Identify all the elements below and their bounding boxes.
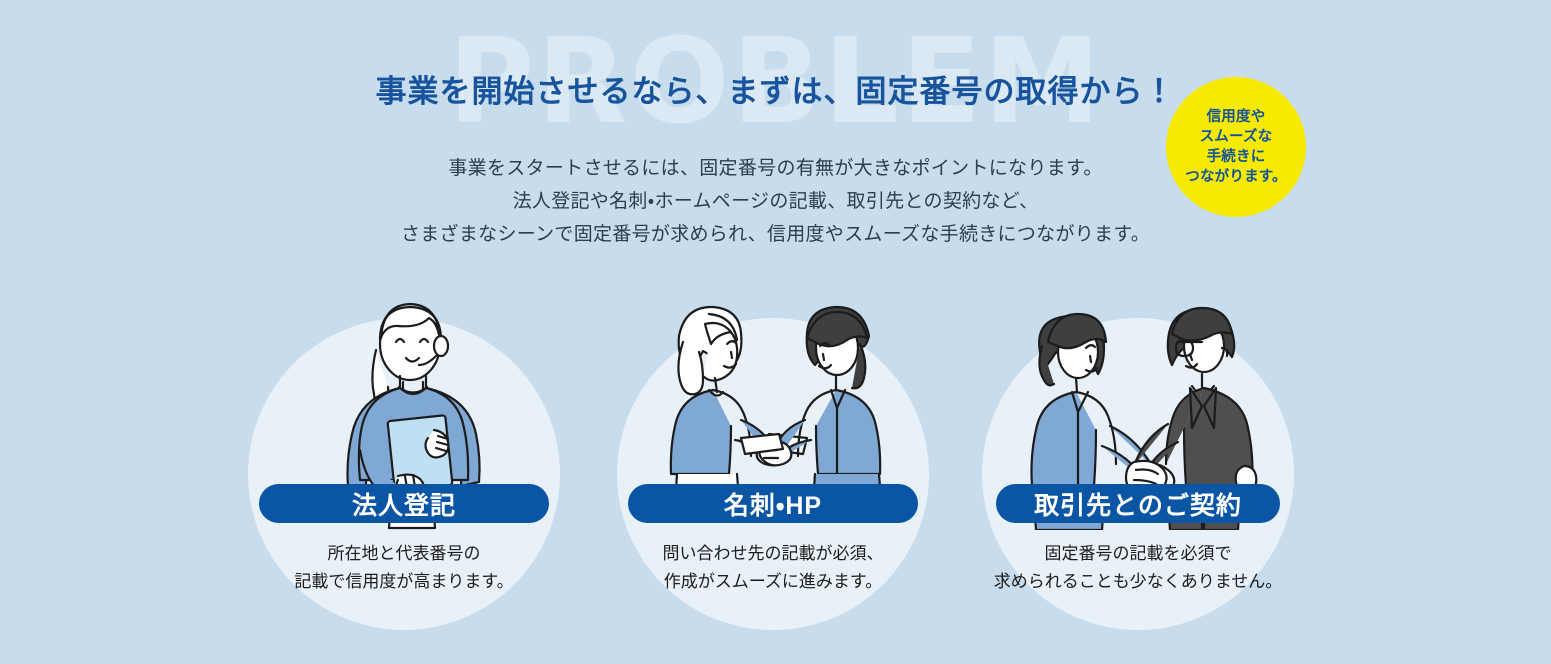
card-caption: 固定番号の記載を必須で 求められることも少なくありません。: [952, 540, 1324, 596]
badge-line-2: スムーズな: [1200, 127, 1273, 147]
lead-line-3: さまざまなシーンで固定番号が求められ、信用度やスムーズな手続きにつながります。: [0, 218, 1551, 251]
card-caption: 問い合わせ先の記載が必須、 作成がスムーズに進みます。: [587, 540, 959, 596]
badge-line-3: 手続きに: [1207, 147, 1266, 167]
card-corporate-registration: 法人登記 所在地と代表番号の 記載で信用度が高まります。: [248, 318, 560, 648]
caption-line-2: 求められることも少なくありません。: [952, 568, 1324, 596]
caption-line-1: 所在地と代表番号の: [218, 540, 590, 568]
badge-line-1: 信用度や: [1207, 107, 1266, 127]
card-business-card-homepage: 名刺・HP 問い合わせ先の記載が必須、 作成がスムーズに進みます。: [617, 318, 929, 648]
card-label-client-contract[interactable]: 取引先とのご契約: [996, 484, 1280, 523]
problem-section: PROBLEM 事業を開始させるなら、まずは、固定番号の取得から！ 事業をスター…: [0, 0, 1551, 664]
lead-line-2: 法人登記や名刺・ホームページの記載、取引先との契約など、: [0, 185, 1551, 218]
caption-line-1: 固定番号の記載を必須で: [952, 540, 1324, 568]
card-label-corporate-registration[interactable]: 法人登記: [259, 484, 549, 523]
page-title: 事業を開始させるなら、まずは、固定番号の取得から！: [0, 70, 1551, 114]
card-label-business-card-homepage[interactable]: 名刺・HP: [628, 484, 918, 523]
status-badge: 信用度や スムーズな 手続きに つながります。: [1166, 77, 1306, 217]
caption-line-2: 作成がスムーズに進みます。: [587, 568, 959, 596]
caption-line-2: 記載で信用度が高まります。: [218, 568, 590, 596]
card-list: 法人登記 所在地と代表番号の 記載で信用度が高まります。: [0, 318, 1551, 648]
lead-paragraph: 事業をスタートさせるには、固定番号の有無が大きなポイントになります。 法人登記や…: [0, 152, 1551, 251]
lead-line-1: 事業をスタートさせるには、固定番号の有無が大きなポイントになります。: [0, 152, 1551, 185]
caption-line-1: 問い合わせ先の記載が必須、: [587, 540, 959, 568]
card-client-contract: 取引先とのご契約 固定番号の記載を必須で 求められることも少なくありません。: [982, 318, 1294, 648]
badge-line-4: つながります。: [1185, 167, 1286, 187]
card-caption: 所在地と代表番号の 記載で信用度が高まります。: [218, 540, 590, 596]
